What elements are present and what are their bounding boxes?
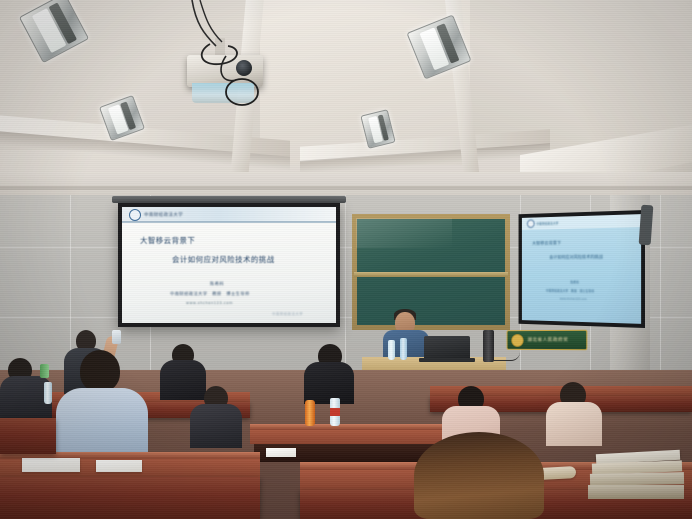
ceiling bbox=[0, 0, 692, 205]
slide-surface: 中南财经政法大学 大智移云背景下 会计如何应对风险技术的挑战 陈希科 中南财经政… bbox=[122, 207, 336, 323]
slide-surface-right: 中南财经政法大学 大智移云背景下 会计如何应对风险技术的挑战 陈希科 中南财经政… bbox=[522, 214, 641, 324]
slide-title-line1: 大智移云背景下 bbox=[140, 235, 195, 246]
attendee-body-foreground bbox=[56, 388, 148, 462]
slide-title-line1-right: 大智移云背景下 bbox=[532, 239, 561, 246]
laptop bbox=[424, 336, 470, 360]
book-stack bbox=[590, 472, 684, 486]
laptop-base bbox=[419, 358, 475, 362]
attendee-foreground-head bbox=[414, 432, 544, 519]
slide-title-line2-right: 会计如何应对风险技术的挑战 bbox=[549, 254, 603, 260]
lecture-hall-photo: 中南财经政法大学 大智移云背景下 会计如何应对风险技术的挑战 陈希科 中南财经政… bbox=[0, 0, 692, 519]
university-logo-icon-right bbox=[527, 219, 535, 228]
slide-title-line2: 会计如何应对风险技术的挑战 bbox=[172, 254, 275, 265]
desk-row-mid-top bbox=[250, 430, 450, 444]
slide-presenter-affiliation-right: 中南财经政法大学 教授 博士生导师 bbox=[546, 288, 594, 293]
blackboard-glare bbox=[356, 218, 452, 248]
university-logo-icon bbox=[129, 209, 141, 221]
attendee-body bbox=[190, 404, 242, 448]
thermos-cup-green bbox=[40, 364, 49, 378]
slide-header-rule bbox=[122, 221, 336, 223]
paper-sheet bbox=[22, 458, 80, 472]
slide-presenter-contact-right: www.xhchen123.com bbox=[560, 297, 587, 301]
chair-back bbox=[0, 418, 56, 454]
wall-plaque: 湖北省人民政府奖 bbox=[507, 330, 588, 350]
slide-logo-right: 中南财经政法大学 bbox=[527, 219, 558, 228]
attendee-body bbox=[546, 402, 602, 446]
plaque-text: 湖北省人民政府奖 bbox=[527, 337, 568, 343]
water-bottle-2 bbox=[400, 338, 407, 360]
slide-presenter-name-right: 陈希科 bbox=[570, 280, 579, 285]
blackboard-chalk-rail bbox=[354, 272, 508, 277]
projector-cables bbox=[170, 0, 290, 110]
attendee-body bbox=[304, 362, 354, 404]
slide-presenter-name: 陈希科 bbox=[210, 281, 224, 287]
plaque-seal-icon bbox=[511, 334, 523, 347]
paper-on-shelf bbox=[266, 448, 296, 457]
paper-sheet bbox=[96, 460, 142, 472]
projection-screen-right: 中南财经政法大学 大智移云背景下 会计如何应对风险技术的挑战 陈希科 中南财经政… bbox=[519, 210, 645, 328]
water-bottle-1 bbox=[388, 340, 395, 360]
attendee-body bbox=[160, 360, 206, 400]
book-stack bbox=[588, 485, 684, 499]
slide-presenter-affiliation: 中南财经政法大学 教授 博士生导师 bbox=[170, 291, 250, 297]
slide-header-org-right: 中南财经政法大学 bbox=[536, 221, 558, 226]
thermos bbox=[483, 330, 494, 362]
bottle-label-red bbox=[330, 408, 340, 416]
slide-logo: 中南财经政法大学 bbox=[129, 209, 183, 221]
slide-header-org: 中南财经政法大学 bbox=[144, 212, 183, 218]
projection-screen-left: 中南财经政法大学 大智移云背景下 会计如何应对风险技术的挑战 陈希科 中南财经政… bbox=[118, 203, 340, 327]
desk-row-near-front bbox=[0, 477, 260, 519]
orange-drink-bottle bbox=[305, 400, 315, 426]
screen-roller-left bbox=[112, 196, 346, 203]
slide-corner-note: 中南财经政法大学 bbox=[272, 311, 303, 316]
attendee-head bbox=[80, 350, 120, 392]
slide-presenter-contact: www.xhchen123.com bbox=[186, 301, 233, 305]
smartphone bbox=[112, 330, 121, 344]
water-bottle bbox=[44, 382, 52, 404]
